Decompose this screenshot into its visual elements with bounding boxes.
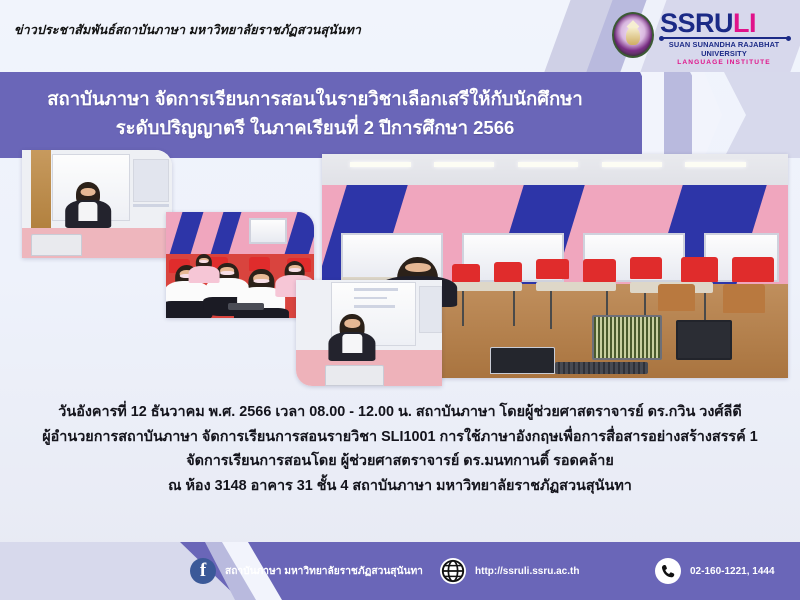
press-release-headline: ข่าวประชาสัมพันธ์สถาบันภาษา มหาวิทยาลัยร… (14, 20, 361, 40)
footer-phone-label: 02-160-1221, 1444 (690, 566, 775, 577)
logo-subtitle-university: SUAN SUNANDHA RAJABHAT UNIVERSITY (660, 40, 788, 58)
title-chevron-3 (692, 72, 722, 158)
ssruli-logo: SSRULI SUAN SUNANDHA RAJABHAT UNIVERSITY… (612, 8, 788, 62)
logo-name-row: SSRULI (660, 10, 788, 36)
globe-icon[interactable] (440, 558, 466, 584)
logo-name-secondary: LI (733, 8, 756, 38)
footer-website[interactable]: http://ssruli.ssru.ac.th (440, 558, 655, 584)
logo-subtitle-unit: LANGUAGE INSTITUTE (660, 59, 788, 66)
university-crest-icon (612, 12, 654, 58)
poster-canvas: ข่าวประชาสัมพันธ์สถาบันภาษา มหาวิทยาลัยร… (0, 0, 800, 600)
logo-divider (662, 37, 788, 39)
facebook-icon[interactable]: f (190, 558, 216, 584)
logo-name-primary: SSRU (660, 8, 733, 38)
logo-wordmark: SSRULI SUAN SUNANDHA RAJABHAT UNIVERSITY… (660, 10, 788, 66)
title-band: สถาบันภาษา จัดการเรียนการสอนในรายวิชาเลื… (0, 72, 800, 158)
event-details: วันอังคารที่ 12 ธันวาคม พ.ศ. 2566 เวลา 0… (0, 400, 800, 498)
page-title: สถาบันภาษา จัดการเรียนการสอนในรายวิชาเลื… (0, 84, 630, 142)
footer-facebook-label: สถาบันภาษา มหาวิทยาลัยราชภัฏสวนสุนันทา (225, 563, 423, 579)
photo-students-1-image (166, 212, 314, 318)
event-details-line-3: จัดการเรียนการสอนโดย ผู้ช่วยศาสตราจารย์ … (0, 449, 800, 474)
photo-students-1 (166, 212, 314, 318)
poster-footer: f สถาบันภาษา มหาวิทยาลัยราชภัฏสวนสุนันทา… (0, 542, 800, 600)
phone-icon[interactable] (655, 558, 681, 584)
scene-presenter-2 (296, 280, 442, 386)
footer-facebook[interactable]: f สถาบันภาษา มหาวิทยาลัยราชภัฏสวนสุนันทา (190, 558, 440, 584)
photo-presenter-1-image (22, 150, 172, 258)
poster-header: ข่าวประชาสัมพันธ์สถาบันภาษา มหาวิทยาลัยร… (0, 0, 800, 72)
photo-presenter-2 (296, 280, 442, 386)
computer-monitor (592, 315, 662, 360)
scene-presenter-1 (22, 150, 172, 258)
footer-phone[interactable]: 02-160-1221, 1444 (655, 558, 775, 584)
event-details-line-1: วันอังคารที่ 12 ธันวาคม พ.ศ. 2566 เวลา 0… (0, 400, 800, 425)
photo-collage (0, 150, 800, 395)
footer-contacts: f สถาบันภาษา มหาวิทยาลัยราชภัฏสวนสุนันทา… (190, 542, 775, 600)
photo-presenter-1 (22, 150, 172, 258)
keyboard (555, 362, 648, 373)
photo-presenter-2-image (296, 280, 442, 386)
scene-students-1 (166, 212, 314, 318)
event-details-line-4: ณ ห้อง 3148 อาคาร 31 ชั้น 4 สถาบันภาษา ม… (0, 474, 800, 499)
page-title-line-1: สถาบันภาษา จัดการเรียนการสอนในรายวิชาเลื… (0, 84, 630, 113)
page-title-line-2: ระดับปริญญาตรี ในภาคเรียนที่ 2 ปีการศึกษ… (0, 113, 630, 142)
footer-website-label: http://ssruli.ssru.ac.th (475, 566, 579, 577)
event-details-line-2: ผู้อำนวยการสถาบันภาษา จัดการเรียนการสอนร… (0, 425, 800, 450)
